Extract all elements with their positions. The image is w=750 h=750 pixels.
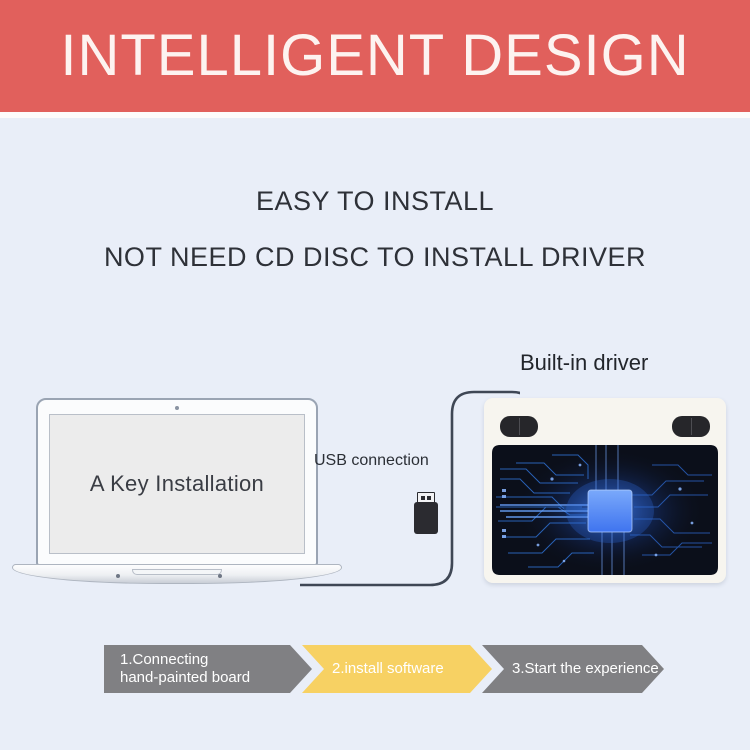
subtitle-block: EASY TO INSTALL NOT NEED CD DISC TO INST… (0, 185, 750, 275)
subtitle-line-1: EASY TO INSTALL (0, 185, 750, 219)
step-label-2: 2.install software (332, 660, 444, 678)
step-item-2[interactable]: 2.install software (302, 645, 492, 693)
page-title: INTELLIGENT DESIGN (60, 27, 689, 85)
laptop-foot-dot-right (218, 574, 222, 578)
laptop-screen: A Key Installation (49, 414, 305, 554)
step-label-3: 3.Start the experience (512, 660, 659, 678)
step-item-1[interactable]: 1.Connecting hand-painted board (104, 645, 312, 693)
circuit-board-graphic (492, 445, 718, 575)
graphics-tablet (484, 398, 726, 583)
usb-flash-drive-icon (414, 492, 438, 534)
tablet-button-right[interactable] (672, 416, 710, 437)
step-item-3[interactable]: 3.Start the experience (482, 645, 664, 693)
laptop-foot-dot-left (116, 574, 120, 578)
header-band: INTELLIGENT DESIGN (0, 0, 750, 112)
tablet-drawing-surface[interactable] (492, 445, 718, 575)
laptop-illustration: A Key Installation (12, 398, 342, 593)
promo-banner: INTELLIGENT DESIGN EASY TO INSTALL NOT N… (0, 0, 750, 750)
subtitle-line-2: NOT NEED CD DISC TO INSTALL DRIVER (0, 241, 750, 275)
webcam-icon (175, 406, 179, 410)
step-label-1: 1.Connecting hand-painted board (120, 651, 250, 688)
builtin-driver-label: Built-in driver (520, 350, 740, 376)
laptop-lid: A Key Installation (36, 398, 318, 566)
header-divider (0, 112, 750, 118)
tablet-button-left[interactable] (500, 416, 538, 437)
usb-connection-label: USB connection (314, 452, 429, 470)
usb-body (414, 502, 438, 534)
steps-bar: 1.Connecting hand-painted board 2.instal… (104, 645, 664, 693)
laptop-lid-notch (132, 569, 222, 575)
laptop-screen-text: A Key Installation (90, 471, 264, 497)
